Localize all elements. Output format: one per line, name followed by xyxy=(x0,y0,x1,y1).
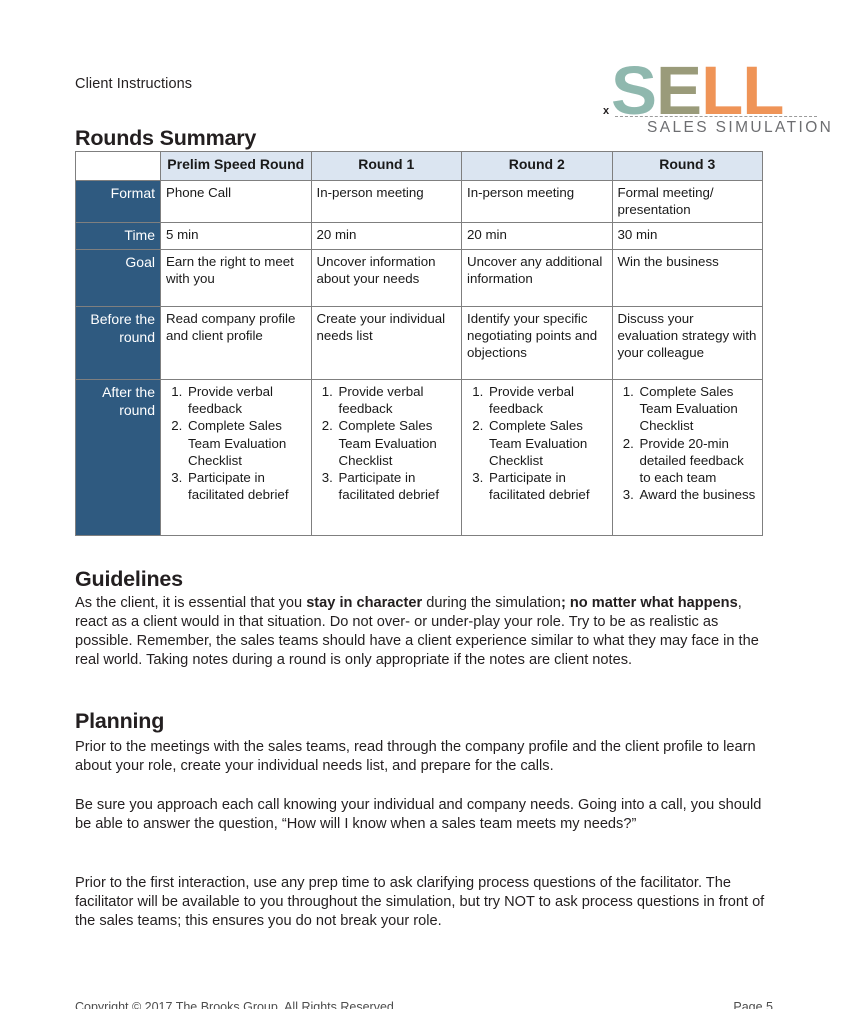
row-label-before-the-round: Before the round xyxy=(76,306,161,379)
table-body: Format Phone Call In-person meeting In-p… xyxy=(76,180,763,535)
cell-format-round1: In-person meeting xyxy=(311,180,462,223)
guidelines-paragraph: As the client, it is essential that you … xyxy=(75,594,773,670)
ordered-list: Provide verbal feedbackComplete Sales Te… xyxy=(166,383,306,504)
cell-before-round1: Create your individual needs list xyxy=(311,306,462,379)
footer-page-number: Page 5 xyxy=(733,1000,773,1009)
list-item: Complete Sales Team Evaluation Checklist xyxy=(487,417,607,469)
list-item: Provide verbal feedback xyxy=(487,383,607,418)
row-label-time: Time xyxy=(76,223,161,249)
list-item: Complete Sales Team Evaluation Checklist xyxy=(638,383,758,435)
cell-before-round2: Identify your specific negotiating point… xyxy=(462,306,613,379)
body-text: during the simulation xyxy=(422,595,561,611)
cell-time-round3: 30 min xyxy=(612,223,763,249)
list-item: Complete Sales Team Evaluation Checklist xyxy=(186,417,306,469)
column-header-prelim: Prelim Speed Round xyxy=(161,152,312,181)
table-header: Prelim Speed Round Round 1 Round 2 Round… xyxy=(76,152,763,181)
cell-goal-round1: Uncover information about your needs xyxy=(311,249,462,306)
table-row: Before the round Read company profile an… xyxy=(76,306,763,379)
list-item: Participate in facilitated debrief xyxy=(337,469,457,504)
row-label-format: Format xyxy=(76,180,161,223)
cell-after-round2: Provide verbal feedbackComplete Sales Te… xyxy=(462,379,613,535)
rounds-summary-heading: Rounds Summary xyxy=(75,126,256,151)
table-row: Time 5 min 20 min 20 min 30 min xyxy=(76,223,763,249)
logo-letter-e: E xyxy=(656,52,701,129)
guidelines-heading: Guidelines xyxy=(75,567,183,592)
table-row: Goal Earn the right to meet with you Unc… xyxy=(76,249,763,306)
logo-letter-s: S xyxy=(611,52,656,129)
list-item: Provide verbal feedback xyxy=(337,383,457,418)
cell-before-round3: Discuss your evaluation strategy with yo… xyxy=(612,306,763,379)
emphasis-text: ; no matter what happens xyxy=(561,595,738,611)
logo-wordmark: SELL xyxy=(611,56,783,125)
document-page: Client Instructions x SELL SALES SIMULAT… xyxy=(0,0,850,1009)
cell-after-round3: Complete Sales Team Evaluation Checklist… xyxy=(612,379,763,535)
list-item: Participate in facilitated debrief xyxy=(186,469,306,504)
cell-format-round3: Formal meeting/ presentation xyxy=(612,180,763,223)
rounds-summary-table: Prelim Speed Round Round 1 Round 2 Round… xyxy=(75,151,763,536)
cell-goal-round2: Uncover any additional information xyxy=(462,249,613,306)
ordered-list: Provide verbal feedbackComplete Sales Te… xyxy=(467,383,607,504)
sell-logo: x SELL SALES SIMULATION xyxy=(527,43,777,148)
planning-paragraph-1: Prior to the meetings with the sales tea… xyxy=(75,738,773,776)
cell-time-round2: 20 min xyxy=(462,223,613,249)
cell-time-round1: 20 min xyxy=(311,223,462,249)
list-item: Participate in facilitated debrief xyxy=(487,469,607,504)
row-label-goal: Goal xyxy=(76,249,161,306)
body-text: As the client, it is essential that you xyxy=(75,595,306,611)
emphasis-text: stay in character xyxy=(306,595,422,611)
cell-goal-round3: Win the business xyxy=(612,249,763,306)
table-corner-cell xyxy=(76,152,161,181)
logo-tagline: SALES SIMULATION xyxy=(647,119,833,137)
planning-paragraph-3: Prior to the first interaction, use any … xyxy=(75,874,773,931)
logo-dashed-rule xyxy=(615,116,817,117)
cell-format-round2: In-person meeting xyxy=(462,180,613,223)
column-header-round3: Round 3 xyxy=(612,152,763,181)
list-item: Provide verbal feedback xyxy=(186,383,306,418)
cell-before-prelim: Read company profile and client profile xyxy=(161,306,312,379)
list-item: Award the business xyxy=(638,486,758,503)
cell-goal-prelim: Earn the right to meet with you xyxy=(161,249,312,306)
table-row: After the round Provide verbal feedbackC… xyxy=(76,379,763,535)
logo-letter-l1: L xyxy=(701,52,742,129)
page-footer: Copyright © 2017 The Brooks Group. All R… xyxy=(75,1000,773,1009)
logo-x-mark: x xyxy=(603,105,609,117)
list-item: Complete Sales Team Evaluation Checklist xyxy=(337,417,457,469)
cell-after-prelim: Provide verbal feedbackComplete Sales Te… xyxy=(161,379,312,535)
cell-time-prelim: 5 min xyxy=(161,223,312,249)
list-item: Provide 20-min detailed feedback to each… xyxy=(638,435,758,487)
cell-after-round1: Provide verbal feedbackComplete Sales Te… xyxy=(311,379,462,535)
planning-heading: Planning xyxy=(75,709,164,734)
table-row: Format Phone Call In-person meeting In-p… xyxy=(76,180,763,223)
document-kicker: Client Instructions xyxy=(75,76,192,92)
column-header-round1: Round 1 xyxy=(311,152,462,181)
planning-paragraph-2: Be sure you approach each call knowing y… xyxy=(75,796,773,834)
footer-copyright: Copyright © 2017 The Brooks Group. All R… xyxy=(75,1000,397,1009)
logo-letter-l2: L xyxy=(742,52,783,129)
table-header-row: Prelim Speed Round Round 1 Round 2 Round… xyxy=(76,152,763,181)
row-label-after-the-round: After the round xyxy=(76,379,161,535)
ordered-list: Complete Sales Team Evaluation Checklist… xyxy=(618,383,758,504)
ordered-list: Provide verbal feedbackComplete Sales Te… xyxy=(317,383,457,504)
cell-format-prelim: Phone Call xyxy=(161,180,312,223)
column-header-round2: Round 2 xyxy=(462,152,613,181)
